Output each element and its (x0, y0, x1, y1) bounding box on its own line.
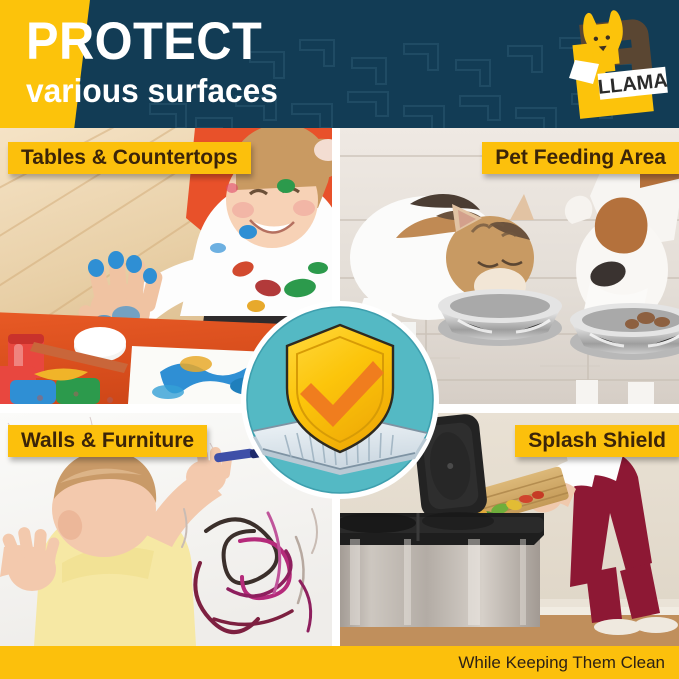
panel-label-pet-feeding-area: Pet Feeding Area (482, 142, 679, 174)
panel-label-tables-countertops: Tables & Countertops (8, 142, 251, 174)
header-banner: PROTECT various surfaces (0, 0, 679, 128)
panel-label-walls-furniture: Walls & Furniture (8, 425, 207, 457)
center-badge-shield-pad (239, 299, 441, 501)
product-infographic: PROTECT various surfaces (0, 0, 679, 679)
footer-bar: While Keeping Them Clean (0, 646, 679, 679)
footer-tagline: While Keeping Them Clean (458, 646, 665, 679)
brand-logo: LLAMA (539, 8, 671, 120)
panel-label-splash-shield: Splash Shield (515, 425, 679, 457)
page-title: PROTECT (26, 14, 504, 70)
page-subtitle: various surfaces (26, 72, 525, 110)
header-text-block: PROTECT various surfaces (26, 14, 546, 110)
